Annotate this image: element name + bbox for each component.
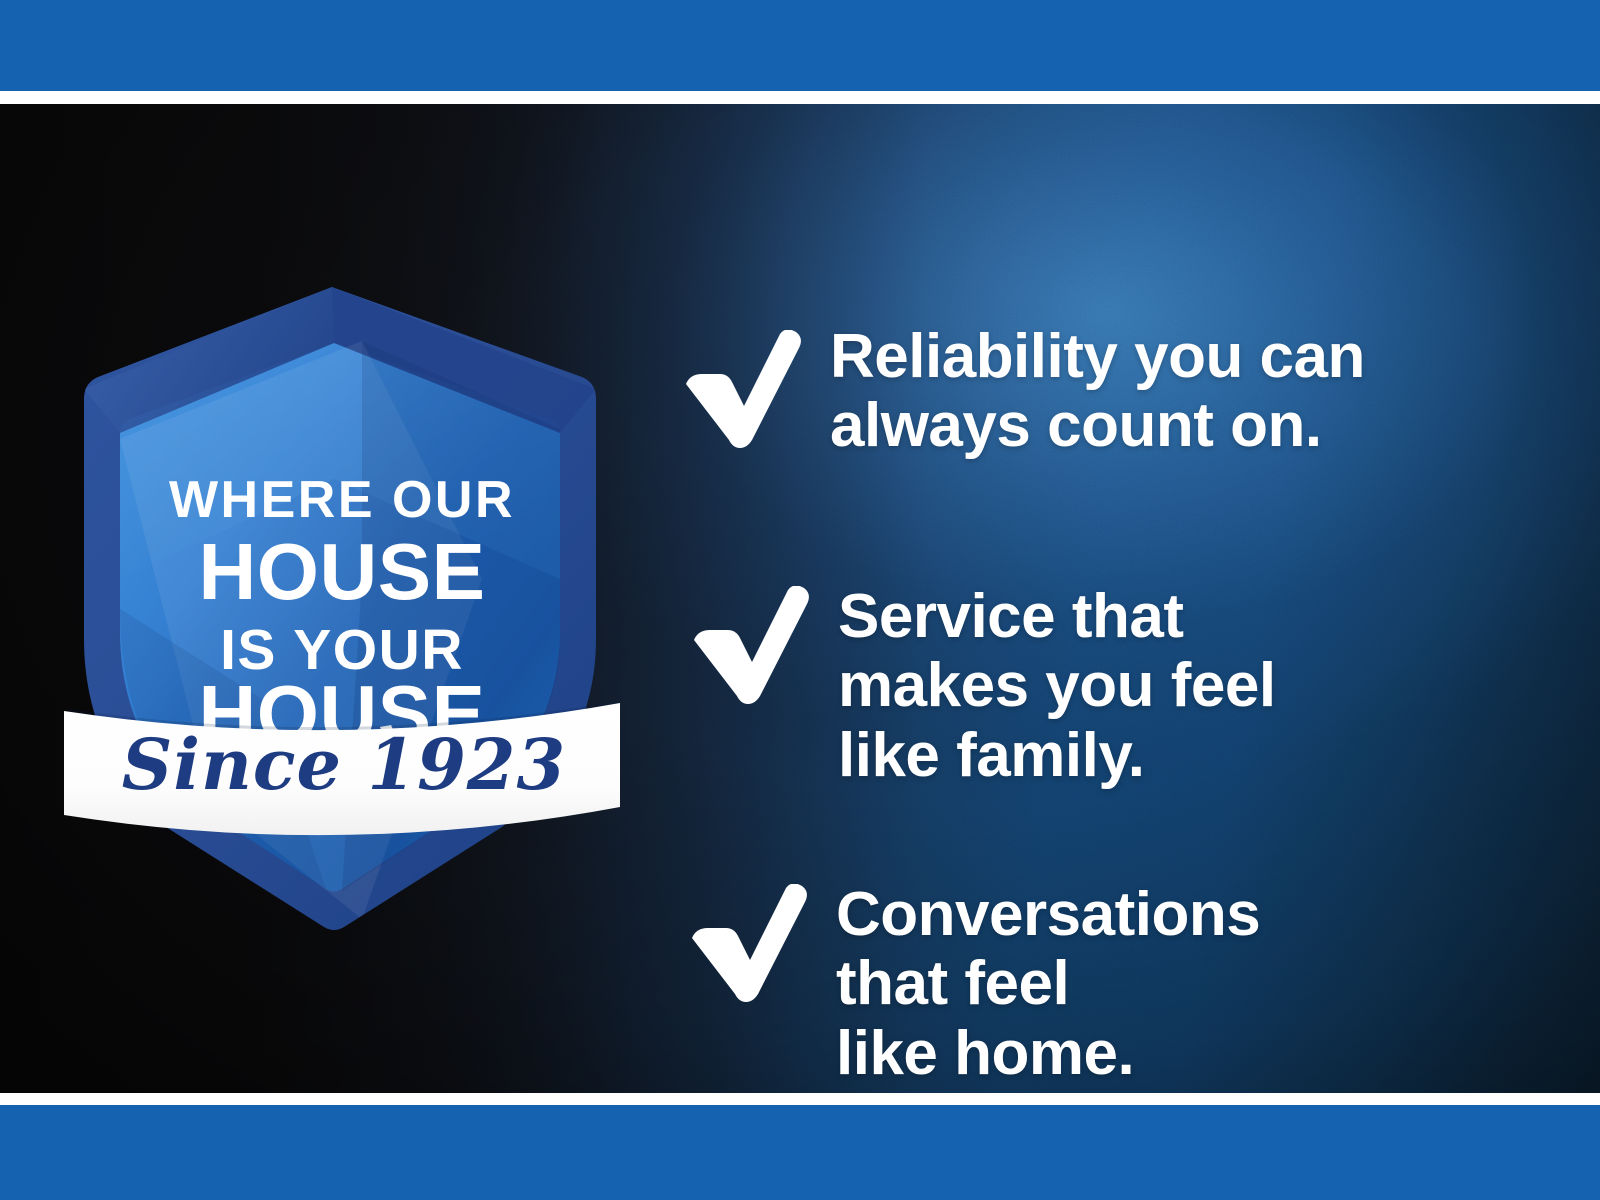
benefit-line: that feel — [836, 949, 1260, 1018]
benefit-line: always count on. — [830, 391, 1365, 460]
benefit-line: like family. — [838, 721, 1276, 790]
benefit-line: makes you feel — [838, 651, 1276, 720]
main-panel: WHERE OUR HOUSE IS YOUR HOUSE Since 1923 — [0, 104, 1600, 1093]
shield-line-0: WHERE OUR — [169, 471, 515, 529]
shield-badge: WHERE OUR HOUSE IS YOUR HOUSE Since 1923 — [62, 279, 622, 939]
benefit-item-1: Service that makes you feel like family. — [688, 578, 1276, 790]
checkmark-icon — [680, 330, 804, 448]
benefit-line: like home. — [836, 1019, 1260, 1088]
benefit-line: Service that — [838, 582, 1276, 651]
checkmark-icon — [688, 586, 812, 704]
promo-graphic: WHERE OUR HOUSE IS YOUR HOUSE Since 1923 — [0, 0, 1600, 1200]
top-white-divider — [0, 91, 1600, 104]
shield-line-1: HOUSE — [199, 527, 486, 616]
checkmark-icon — [686, 884, 810, 1002]
ribbon-text: Since 1923 — [122, 723, 566, 806]
top-brand-bar — [0, 0, 1600, 91]
benefit-item-2: Conversations that feel like home. — [686, 876, 1260, 1088]
benefit-line: Conversations — [836, 880, 1260, 949]
bottom-white-divider — [0, 1093, 1600, 1105]
benefit-item-0: Reliability you can always count on. — [680, 318, 1365, 461]
benefit-text-0: Reliability you can always count on. — [830, 318, 1365, 461]
benefits-list: Reliability you can always count on. Ser… — [672, 208, 1552, 1093]
bottom-brand-bar — [0, 1105, 1600, 1200]
benefit-line: Reliability you can — [830, 322, 1365, 391]
benefit-text-2: Conversations that feel like home. — [836, 876, 1260, 1088]
benefit-text-1: Service that makes you feel like family. — [838, 578, 1276, 790]
